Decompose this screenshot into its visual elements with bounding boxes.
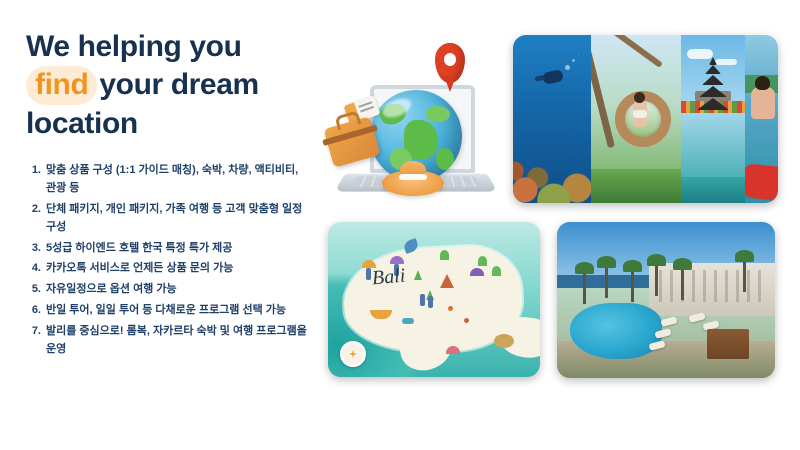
list-item: 7. 발리를 중심으로! 롬복, 자카르타 숙박 및 여행 프로그램을 운영 [26,323,318,359]
poolside-cabana [707,329,749,359]
list-item-label: 카카오톡 서비스로 언제든 상품 문의 가능 [46,260,318,278]
parasol-icon [470,268,484,276]
palm-tree-icon [631,268,634,302]
list-item-label: 자유일정으로 옵션 여행 가능 [46,281,318,299]
beach-umbrella-icon [390,256,404,264]
pagoda-tier [702,75,724,85]
pagoda-tier [699,86,727,97]
headline-text-before: We helping you [26,30,242,63]
sun-lounger [660,316,677,327]
surfer-icon [402,318,414,324]
pagoda-tier [697,98,729,110]
resort-pool-photo [557,222,775,378]
map-pin-icon [435,43,465,83]
bubbles [565,65,570,70]
sun-hat-icon [382,170,444,196]
bali-photo-collage [513,35,778,203]
list-item-number: 3. [26,240,41,258]
tree-branch [611,35,663,68]
temple-icon [440,274,454,288]
list-item-label: 5성급 하이엔드 호텔 한국 특정 특가 제공 [46,240,318,258]
list-item-number: 5. [26,281,41,299]
headline-text-after: your dream [99,68,258,101]
list-item-number: 4. [26,260,41,278]
travel-laptop-globe-illustration [318,30,508,210]
list-item: 6. 반일 투어, 일일 투어 등 다채로운 프로그램 선택 가능 [26,302,318,320]
palm-tree-icon [605,264,608,298]
coral-reef [513,121,591,203]
palm-tree-icon [743,258,746,292]
ulun-danu-temple-photo [681,35,745,203]
tourist-figure [428,296,433,308]
diver-figure [542,69,564,85]
map-marker [448,306,453,311]
list-item-number: 7. [26,323,41,341]
list-item: 5. 자유일정으로 옵션 여행 가능 [26,281,318,299]
list-item-number: 2. [26,201,41,219]
lake-water [681,177,745,203]
list-item-label: 반일 투어, 일일 투어 등 다채로운 프로그램 선택 가능 [46,302,318,320]
pagoda-icon [697,57,729,121]
tree-icon [414,270,422,280]
ocean-horizon [557,275,649,287]
headline-line-2: findyour dream [26,66,326,105]
swimming-pool [570,303,662,359]
list-item-number: 1. [26,162,41,180]
list-item-label: 맞춤 상품 구성 (1:1 가이드 매칭), 숙박, 차량, 액티비티, 관광 … [46,162,318,198]
scuba-diving-photo [513,35,591,203]
feature-list: 1. 맞춤 상품 구성 (1:1 가이드 매칭), 숙박, 차량, 액티비티, … [26,162,318,358]
person-figure [633,101,647,127]
palm-tree-icon [440,250,449,260]
palm-tree-icon [681,266,684,300]
bali-illustrated-map: Bali [328,222,540,377]
resort-buildings [649,263,775,316]
headline-line-3: location [26,105,326,143]
palm-tree-icon [583,270,586,304]
list-item: 1. 맞춤 상품 구성 (1:1 가이드 매칭), 숙박, 차량, 액티비티, … [26,162,318,198]
map-label-bali: Bali [371,265,406,291]
pagoda-tier [705,65,721,74]
list-item-number: 6. [26,302,41,320]
red-dress [745,163,778,201]
tree-branch [591,42,615,148]
palm-tree-icon [655,262,658,296]
slide-canvas: We helping you findyour dream location 1… [0,0,800,450]
headline-highlight-find: find [26,66,97,105]
person-figure [751,87,775,119]
sea-turtle-icon [494,334,514,348]
list-item: 3. 5성급 하이엔드 호텔 한국 특정 특가 제공 [26,240,318,258]
pagoda-tier [709,57,717,65]
palm-tree-icon [492,266,501,276]
list-item-label: 단체 패키지, 개인 패키지, 가족 여행 등 고객 맞춤형 일정 구성 [46,201,318,237]
map-marker [464,318,469,323]
headline-line-1: We helping you [26,28,326,66]
page-title: We helping you findyour dream location [26,28,326,142]
list-item: 4. 카카오톡 서비스로 언제든 상품 문의 가능 [26,260,318,278]
palm-tree-icon [478,256,487,266]
globe-landmass [426,106,450,122]
nest-swing-photo [591,35,681,203]
tourist-figure [420,294,425,306]
red-dress-photo [745,35,778,203]
tourist-figure [366,268,371,280]
list-item: 2. 단체 패키지, 개인 패키지, 가족 여행 등 고객 맞춤형 일정 구성 [26,201,318,237]
grass-foreground [591,169,681,203]
beach-umbrella-icon [446,346,460,354]
list-item-label: 발리를 중심으로! 롬복, 자카르타 숙박 및 여행 프로그램을 운영 [46,323,318,359]
globe-landmass [436,148,454,170]
compass-rose-icon [340,341,366,367]
left-content-column: We helping you findyour dream location 1… [26,28,326,362]
